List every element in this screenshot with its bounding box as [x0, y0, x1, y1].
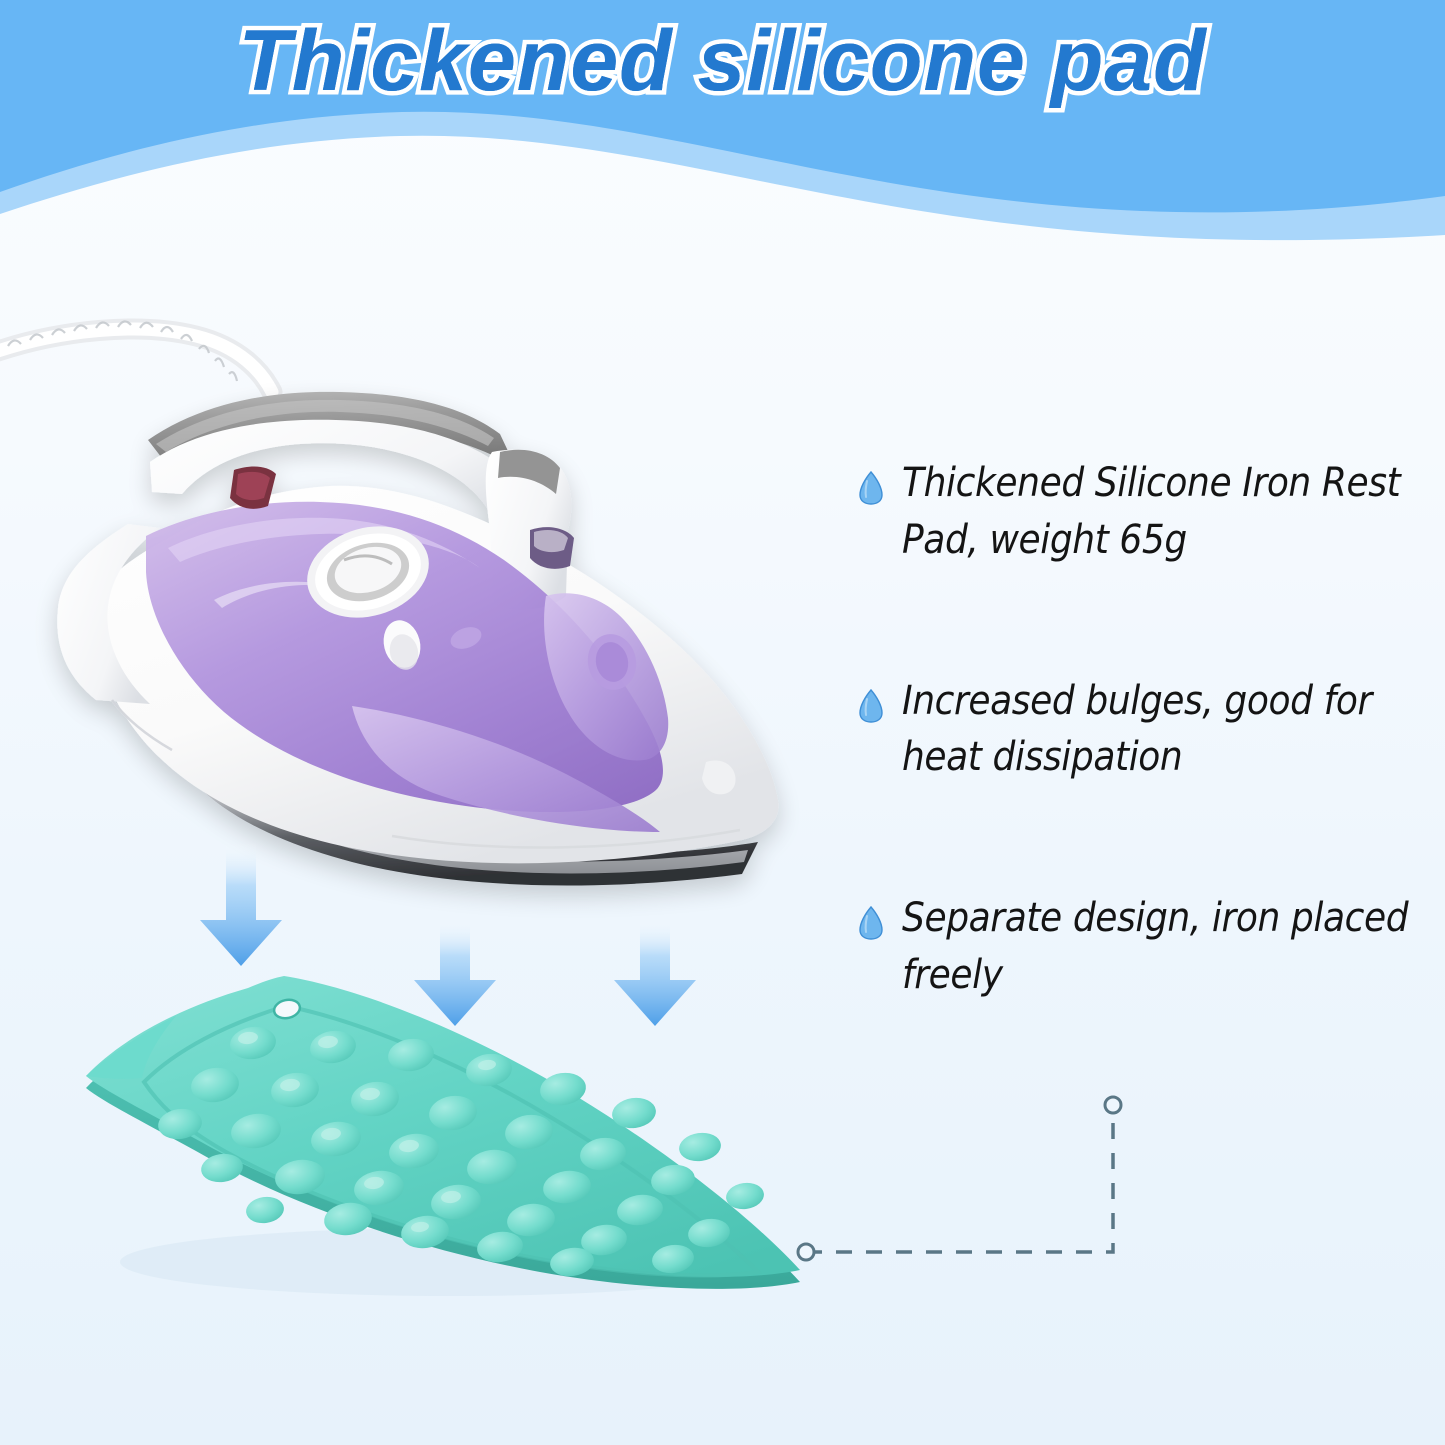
iron-drop-bullet-icon: [858, 471, 884, 505]
feature-list: Thickened Silicone Iron Rest Pad, weight…: [858, 455, 1438, 1108]
product-infographic: Thickened silicone pad Thickened silicon…: [0, 0, 1445, 1445]
iron-power-cord: [0, 321, 272, 392]
down-arrow-1: [200, 842, 282, 966]
feature-text: Thickened Silicone Iron Rest Pad, weight…: [902, 455, 1438, 569]
feature-text: Increased bulges, good for heat dissipat…: [902, 673, 1438, 787]
silicone-iron-rest-pad: [86, 976, 800, 1296]
feature-item: Thickened Silicone Iron Rest Pad, weight…: [858, 455, 1438, 569]
measurement-callout: [798, 1097, 1121, 1260]
iron-drop-bullet-icon: [858, 906, 884, 940]
steam-iron: [57, 392, 778, 886]
down-arrow-3: [614, 918, 696, 1026]
iron-drop-bullet-icon: [858, 689, 884, 723]
callout-endpoint-start: [798, 1244, 814, 1260]
feature-item: Increased bulges, good for heat dissipat…: [858, 673, 1438, 787]
feature-text: Separate design, iron placed freely: [902, 890, 1438, 1004]
feature-item: Separate design, iron placed freely: [858, 890, 1438, 1004]
down-arrow-2: [414, 918, 496, 1026]
